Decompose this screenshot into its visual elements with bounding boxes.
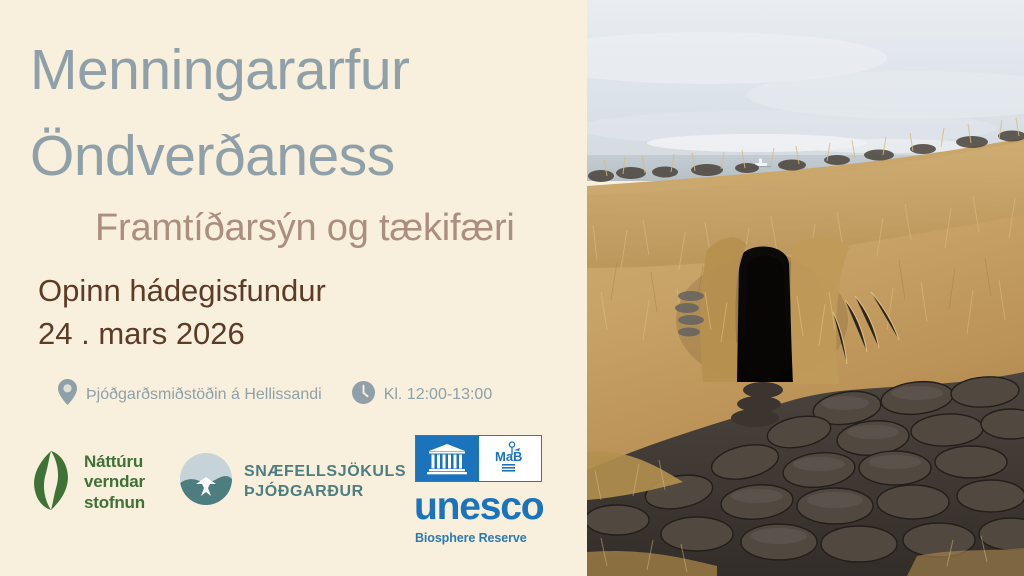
logo-unesco-biosphere-reserve: MaB unesco Biosphere Reserve [412,435,562,545]
glacier-bird-circle-icon [180,453,232,510]
time-text: Kl. 12:00-13:00 [384,386,493,404]
unesco-biosphere-reserve-label: Biosphere Reserve [415,531,562,545]
logo-row: Náttúru verndar stofnun [30,435,570,540]
event-poster: Menningararfur Öndverðaness Framtíðarsýn… [0,0,1024,576]
landscape-photo [587,0,1024,576]
map-pin-icon [58,379,77,410]
logo-natturuverndarstofnun: Náttúru verndar stofnun [30,449,145,516]
logo-snaefellsjokuls-text: SNÆFELLSJÖKULS ÞJÓÐGARÐUR [244,462,406,502]
page-title-line-1: Menningararfur [30,42,410,99]
leaf-n-monogram-icon [30,449,72,516]
page-title-line-2: Öndverðaness [30,128,395,185]
unesco-emblem: MaB [415,435,542,482]
meeting-date: 24 . mars 2026 [38,318,245,349]
logo-snaefellsjokuls-thjodgardur: SNÆFELLSJÖKULS ÞJÓÐGARÐUR [180,453,406,510]
time-detail: Kl. 12:00-13:00 [352,381,493,409]
unesco-temple-icon [416,436,479,481]
unesco-wordmark: unesco [414,487,562,526]
meeting-type: Opinn hádegisfundur [38,275,326,306]
clock-icon [352,381,375,409]
page-subtitle: Framtíðarsýn og tækifæri [95,209,515,247]
location-detail: Þjóðgarðsmiðstöðin á Hellissandi [58,379,352,410]
text-panel: Menningararfur Öndverðaness Framtíðarsýn… [0,0,587,576]
svg-text:MaB: MaB [495,449,522,464]
location-text: Þjóðgarðsmiðstöðin á Hellissandi [86,386,322,404]
event-details-row: Þjóðgarðsmiðstöðin á Hellissandi Kl. 12:… [58,379,492,410]
unesco-mab-icon: MaB [479,436,542,481]
logo-natturuverndarstofnun-text: Náttúru verndar stofnun [84,452,145,512]
